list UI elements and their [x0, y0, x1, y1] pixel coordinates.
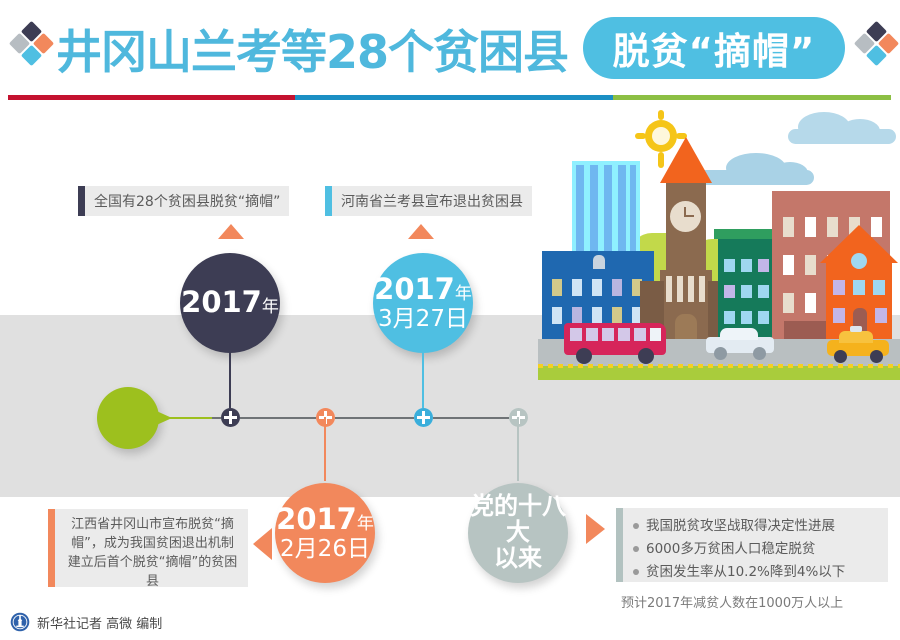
forecast-note: 预计2017年减贫人数在1000万人以上 [621, 592, 843, 611]
balloon-gray-stem [517, 417, 519, 481]
label-arrow-national [218, 224, 244, 239]
taxi-wheel-1 [834, 350, 847, 363]
balloon-blue-date: 3月27日 [378, 307, 468, 332]
label-accent-bar-navy [78, 186, 85, 216]
balloon-2017-dark[interactable]: 2017年 [180, 253, 280, 353]
cloud-icon-1 [788, 112, 896, 144]
balloon-18th-congress[interactable]: 党的十八大 以来 [468, 483, 568, 583]
white-car-cabin [720, 328, 758, 340]
road-dash-line [538, 364, 900, 368]
page-title: 井冈山兰考等28个贫困县 [56, 16, 568, 82]
balloon-dark-year: 2017 [181, 285, 262, 319]
taxi-cabin [839, 331, 873, 343]
cloud-icon-2 [698, 153, 814, 185]
balloon-2017-0327[interactable]: 2017年 3月27日 [373, 253, 473, 353]
bullet-icon [633, 546, 639, 552]
balloon-gray-line1: 党的十八大 [468, 494, 568, 546]
infographic-page: 井冈山兰考等28个贫困县 脱贫“摘帽” [0, 0, 900, 640]
balloon-orange-date: 2月26日 [280, 537, 370, 562]
clock-tower-roof [660, 137, 712, 183]
title-pill: 脱贫“摘帽” [583, 17, 845, 79]
bottom-left-callout: 江西省井冈山市宣布脱贫“摘帽”，成为我国贫困退出机制建立后首个脱贫“摘帽”的贫困… [48, 509, 248, 587]
balloon-green-tail [152, 409, 172, 427]
white-car-wheel-2 [753, 347, 766, 360]
bottom-right-callout: 我国脱贫攻坚战取得决定性进展 6000多万贫困人口稳定脱贫 贫困发生率从10.2… [616, 508, 888, 582]
achievement-list: 我国脱贫攻坚战取得决定性进展 6000多万贫困人口稳定脱贫 贫困发生率从10.2… [623, 508, 845, 582]
header: 井冈山兰考等28个贫困县 脱贫“摘帽” [0, 0, 900, 110]
green-block-roof [714, 229, 778, 239]
list-item: 6000多万贫困人口稳定脱贫 [633, 538, 845, 561]
balloon-orange-stem [324, 417, 326, 481]
list-item-text: 贫困发生率从10.2%降到4%以下 [646, 564, 845, 580]
timeline-node-dark[interactable] [221, 408, 240, 427]
bullet-icon [633, 569, 639, 575]
bottom-left-arrow [253, 528, 272, 560]
balloon-blue-line1: 2017年 [374, 274, 472, 305]
clock-face-icon [670, 201, 701, 232]
label-arrow-lankao [408, 224, 434, 239]
bus-wheel-2 [638, 348, 654, 364]
credit-text: 新华社记者 高微 编制 [37, 613, 162, 632]
rule-blue [295, 95, 613, 100]
bottom-left-accent-bar [48, 509, 55, 587]
timeline-node-blue[interactable] [414, 408, 433, 427]
rule-green [613, 95, 891, 100]
clock-tower-base [660, 270, 712, 340]
list-item-text: 6000多万贫困人口稳定脱贫 [646, 541, 815, 557]
balloon-blue-year: 2017 [374, 272, 455, 306]
label-accent-bar-blue [325, 186, 332, 216]
rule-red [8, 95, 295, 100]
white-car-wheel-1 [714, 347, 727, 360]
list-item: 我国脱贫攻坚战取得决定性进展 [633, 515, 845, 538]
list-item: 贫困发生率从10.2%降到4%以下 [633, 561, 845, 584]
balloon-orange-year: 2017 [276, 502, 357, 536]
bus-wheel-1 [576, 348, 592, 364]
taxi-wheel-2 [870, 350, 883, 363]
taxi-sign-icon [850, 326, 862, 332]
diamond-ornament-right [855, 24, 899, 72]
balloon-2017-0226[interactable]: 2017年 2月26日 [275, 483, 375, 583]
bottom-left-text: 江西省井冈山市宣布脱贫“摘帽”，成为我国贫困退出机制建立后首个脱贫“摘帽”的贫困… [55, 509, 248, 587]
bottom-right-accent-bar [616, 508, 623, 582]
balloon-dark-suffix: 年 [262, 297, 279, 317]
balloon-green[interactable] [97, 387, 159, 449]
balloon-green-stem [170, 417, 212, 419]
city-skyline-illustration [520, 105, 900, 380]
list-item-text: 我国脱贫攻坚战取得决定性进展 [646, 518, 835, 534]
balloon-blue-suffix: 年 [455, 284, 472, 304]
bullet-icon [633, 523, 639, 529]
balloon-orange-line1: 2017年 [276, 504, 374, 535]
grass-strip [538, 366, 900, 380]
label-box-lankao: 河南省兰考县宣布退出贫困县 [325, 186, 532, 216]
label-text-national: 全国有28个贫困县脱贫“摘帽” [85, 191, 289, 211]
xinhua-logo-icon [10, 612, 30, 632]
label-text-lankao: 河南省兰考县宣布退出贫困县 [332, 191, 532, 211]
building-green-block [718, 235, 774, 339]
balloon-dark-line1: 2017年 [181, 287, 279, 318]
balloon-orange-suffix: 年 [357, 514, 374, 534]
title-pill-label: 脱贫“摘帽” [583, 17, 845, 79]
label-box-national: 全国有28个贫困县脱贫“摘帽” [78, 186, 289, 216]
diamond-ornament-left [10, 24, 54, 72]
balloon-gray-line2: 以来 [494, 546, 542, 572]
credit-line: 新华社记者 高微 编制 [10, 612, 162, 632]
bottom-right-arrow [586, 514, 605, 544]
